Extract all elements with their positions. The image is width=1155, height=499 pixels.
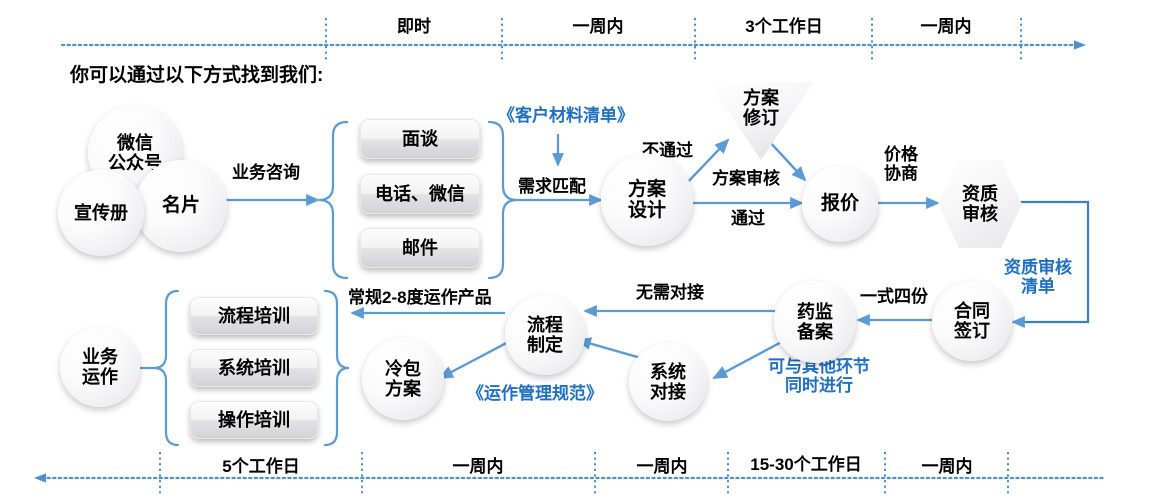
contact-label-2: 宣传册: [74, 203, 128, 223]
node-quotation-label: 报价: [821, 193, 859, 214]
channel-item-0[interactable]: 面谈: [360, 119, 480, 159]
node-contract-signing-label: 合同 签订: [954, 301, 990, 341]
edge-label-qualification-review-list: 资质审核 清单: [1004, 258, 1072, 297]
node-qualification-review[interactable]: 资质 审核: [938, 160, 1022, 248]
timeline-top-label-3: 一周内: [921, 12, 972, 37]
node-nmpa-filing[interactable]: 药监 备案: [774, 281, 856, 363]
node-system-docking[interactable]: 系统 对接: [629, 343, 707, 421]
edge-label-concurrent-note: 可与其他环节 同时进行: [768, 357, 870, 396]
edge-label-business-consulting: 业务咨询: [232, 163, 300, 182]
contact-business-card[interactable]: 名片: [135, 160, 227, 252]
node-plan-design-label: 方案 设计: [628, 179, 666, 222]
contact-brochure[interactable]: 宣传册: [58, 170, 144, 256]
node-nmpa-filing-label: 药监 备案: [797, 302, 833, 342]
channel-label-1: 电话、微信: [375, 184, 465, 204]
node-system-docking-label: 系统 对接: [650, 362, 686, 402]
node-plan-revision[interactable]: 方案 修订: [708, 82, 814, 160]
node-business-operation-label: 业务 运作: [82, 347, 118, 387]
page-heading: 你可以通过以下方式找到我们:: [70, 60, 323, 87]
node-plan-design[interactable]: 方案 设计: [601, 154, 693, 246]
edge-label-price-negotiation: 价格 协商: [884, 145, 918, 184]
node-business-operation[interactable]: 业务 运作: [60, 327, 140, 407]
timeline-bottom-label-2: 一周内: [637, 452, 688, 477]
brace-training-right: [325, 291, 349, 445]
node-cold-pack-plan-label: 冷包 方案: [385, 359, 421, 399]
brace-training-left: [154, 291, 178, 445]
edge-operation-spec: [440, 340, 512, 378]
timeline-bottom-label-1: 一周内: [453, 452, 504, 477]
timeline-top-label-0: 即时: [397, 12, 431, 37]
edge-label-requirement-matching: 需求匹配: [518, 177, 586, 196]
timeline-bottom-label-3: 15-30个工作日: [750, 450, 861, 475]
timeline-top-label-1: 一周内: [573, 12, 624, 37]
contact-label-0: 微信 公众号: [108, 133, 162, 173]
training-label-2: 操作培训: [218, 410, 290, 430]
channel-label-0: 面谈: [402, 129, 438, 149]
training-item-0[interactable]: 流程培训: [190, 297, 318, 335]
node-cold-pack-plan[interactable]: 冷包 方案: [362, 338, 444, 420]
edge-label-passed: 通过: [731, 209, 765, 228]
training-item-2[interactable]: 操作培训: [190, 401, 318, 439]
channel-item-2[interactable]: 邮件: [360, 228, 480, 268]
node-contract-signing[interactable]: 合同 签订: [932, 281, 1012, 361]
brace-channels-right: [489, 122, 517, 278]
timeline-bottom-label-0: 5个工作日: [222, 452, 299, 477]
channel-item-1[interactable]: 电话、微信: [360, 174, 480, 214]
node-process-definition-label: 流程 制定: [527, 315, 563, 355]
contact-label-1: 名片: [162, 195, 200, 216]
training-label-1: 系统培训: [218, 358, 290, 378]
training-item-1[interactable]: 系统培训: [190, 349, 318, 387]
timeline-bottom-label-4: 一周内: [922, 452, 973, 477]
timeline-top-label-2: 3个工作日: [745, 12, 822, 37]
flowchart-canvas: 你可以通过以下方式找到我们: 即时 一周内 3个工作日 一周内 5个工作日 一周…: [0, 0, 1155, 499]
edge-label-operation-spec: 《运作管理规范》: [467, 384, 603, 403]
node-qualification-review-label: 资质 审核: [962, 184, 998, 224]
edge-label-no-docking: 无需对接: [636, 283, 704, 302]
channel-label-2: 邮件: [402, 238, 438, 258]
edge-label-customer-material-list: 《客户材料清单》: [498, 106, 634, 125]
edge-label-plan-review: 方案审核: [712, 169, 780, 188]
edge-label-quadruplicate: 一式四份: [860, 287, 928, 306]
brace-channels-left: [319, 122, 347, 278]
node-plan-revision-label: 方案 修订: [743, 88, 779, 128]
edge-label-routine-product: 常规2-8度运作产品: [348, 288, 492, 307]
node-quotation[interactable]: 报价: [802, 166, 878, 242]
node-process-definition[interactable]: 流程 制定: [505, 295, 585, 375]
training-label-0: 流程培训: [218, 306, 290, 326]
